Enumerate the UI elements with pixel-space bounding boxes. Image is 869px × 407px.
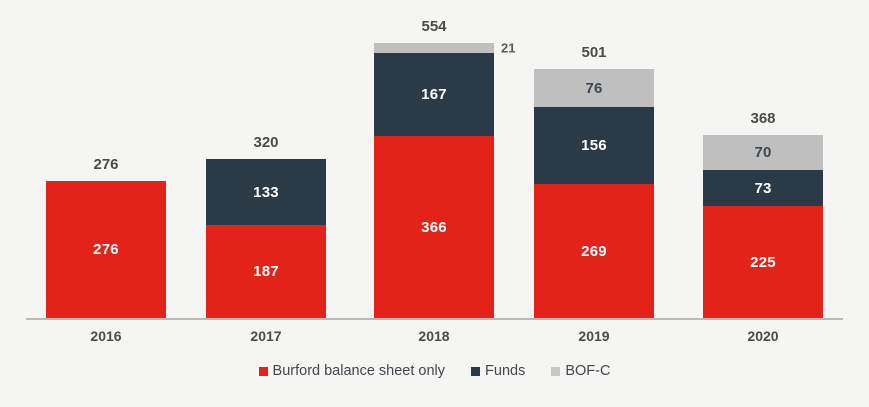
stacked-bar-chart: 2762761871333203661672155426915676501225… [0, 0, 869, 407]
segment-value-label: 73 [754, 181, 771, 196]
bar-total-label-2016: 276 [46, 156, 166, 173]
segment-value-label: 156 [581, 138, 607, 153]
bar-stack: 276 [46, 181, 166, 318]
legend-swatch-icon [259, 367, 268, 376]
segment-value-label: 76 [585, 81, 602, 96]
segment-value-label: 187 [253, 264, 279, 279]
category-label-2020: 2020 [703, 328, 823, 344]
bar-segment-2018-burford-balance-sheet-only[interactable]: 366 [374, 136, 494, 318]
bar-group-2018[interactable]: 36616721554 [374, 0, 494, 319]
category-label-2016: 2016 [46, 328, 166, 344]
bar-group-2020[interactable]: 2257370368 [703, 0, 823, 319]
bar-segment-2019-burford-balance-sheet-only[interactable]: 269 [534, 184, 654, 318]
bar-total-label-2020: 368 [703, 110, 823, 127]
bar-stack: 26915676 [534, 69, 654, 318]
bar-segment-2018-bof-c[interactable]: 21 [374, 43, 494, 53]
segment-value-label: 269 [581, 244, 607, 259]
bar-segment-2020-bof-c[interactable]: 70 [703, 135, 823, 170]
bar-total-label-2017: 320 [206, 134, 326, 151]
bar-total-label-2019: 501 [534, 44, 654, 61]
segment-value-label: 70 [754, 145, 771, 160]
bar-total-label-2018: 554 [374, 18, 494, 35]
plot-area: 2762761871333203661672155426915676501225… [0, 0, 869, 319]
segment-value-label: 225 [750, 255, 776, 270]
legend-swatch-icon [471, 367, 480, 376]
legend-item-burford-balance-sheet-only[interactable]: Burford balance sheet only [259, 363, 446, 379]
bar-stack: 36616721 [374, 43, 494, 318]
segment-value-label: 276 [93, 242, 119, 257]
segment-value-label: 167 [421, 87, 447, 102]
bar-segment-2018-funds[interactable]: 167 [374, 53, 494, 136]
bar-segment-2017-burford-balance-sheet-only[interactable]: 187 [206, 225, 326, 318]
category-label-2018: 2018 [374, 328, 494, 344]
chart-legend: Burford balance sheet onlyFundsBOF-C [0, 363, 869, 379]
segment-value-label: 366 [421, 220, 447, 235]
segment-value-label-external: 21 [501, 41, 515, 56]
bar-stack: 2257370 [703, 135, 823, 318]
bar-group-2019[interactable]: 26915676501 [534, 0, 654, 319]
category-label-2017: 2017 [206, 328, 326, 344]
legend-swatch-icon [551, 367, 560, 376]
bar-segment-2020-burford-balance-sheet-only[interactable]: 225 [703, 206, 823, 318]
bar-segment-2019-bof-c[interactable]: 76 [534, 69, 654, 107]
bar-group-2017[interactable]: 187133320 [206, 0, 326, 319]
legend-item-bof-c[interactable]: BOF-C [551, 363, 610, 379]
bar-segment-2016-burford-balance-sheet-only[interactable]: 276 [46, 181, 166, 318]
legend-label: Funds [485, 363, 525, 379]
bar-segment-2019-funds[interactable]: 156 [534, 107, 654, 184]
bar-stack: 187133 [206, 159, 326, 318]
bar-segment-2017-funds[interactable]: 133 [206, 159, 326, 225]
legend-label: BOF-C [565, 363, 610, 379]
bar-segment-2020-funds[interactable]: 73 [703, 170, 823, 206]
bar-group-2016[interactable]: 276276 [46, 0, 166, 319]
legend-label: Burford balance sheet only [273, 363, 446, 379]
legend-item-funds[interactable]: Funds [471, 363, 525, 379]
segment-value-label: 133 [253, 185, 279, 200]
category-label-2019: 2019 [534, 328, 654, 344]
